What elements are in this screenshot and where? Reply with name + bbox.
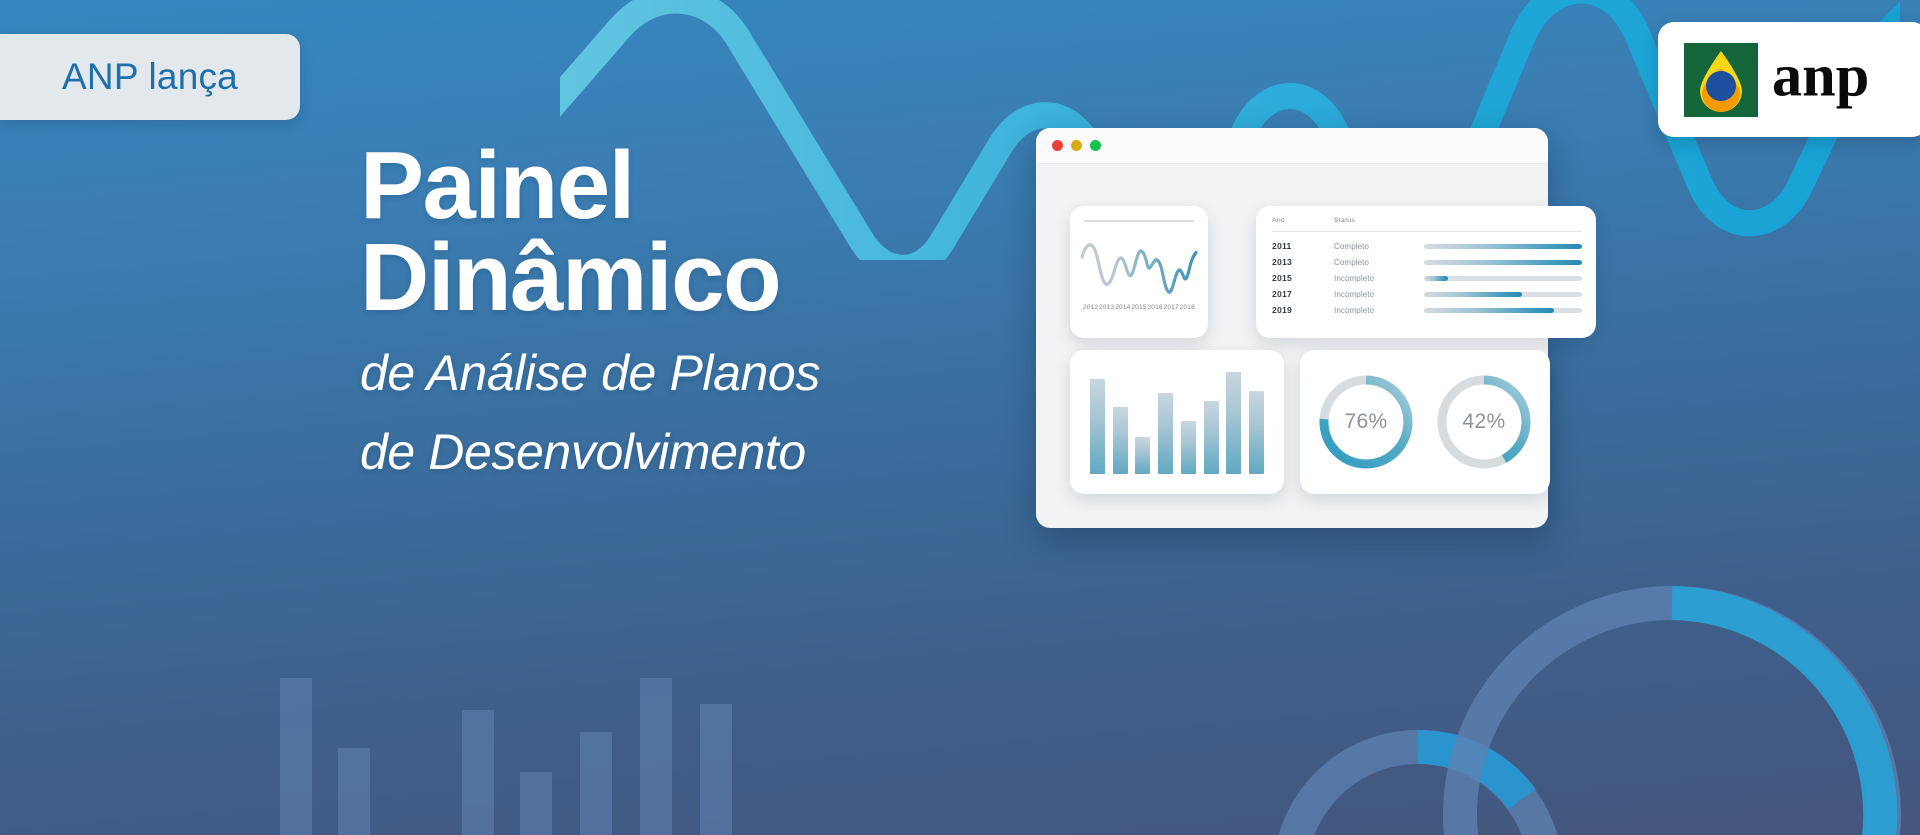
donut-gauge-value: 76% bbox=[1314, 370, 1418, 474]
cell-status: Incompleto bbox=[1334, 290, 1424, 299]
chart-bar bbox=[1113, 407, 1128, 474]
cell-progress-bar bbox=[1424, 292, 1582, 297]
chart-bar bbox=[1158, 393, 1173, 474]
cell-progress-bar bbox=[1424, 276, 1582, 281]
tick-2012: 2012 bbox=[1083, 304, 1098, 311]
headline-block: Painel Dinâmico de Análise de Planos de … bbox=[360, 140, 820, 482]
chart-bar bbox=[1135, 437, 1150, 474]
donut-gauge: 42% bbox=[1432, 370, 1536, 474]
line-chart-card: 2012 2013 2014 2015 2016 2017 2018 bbox=[1070, 206, 1208, 338]
cell-progress-bar bbox=[1424, 308, 1582, 313]
anp-wordmark: anp bbox=[1772, 39, 1910, 121]
subheadline-line-2: de Desenvolvimento bbox=[360, 423, 820, 482]
status-table-card: Ano Status 2011Completo2013Completo2015I… bbox=[1256, 206, 1596, 338]
anp-wordmark-text: anp bbox=[1772, 42, 1869, 109]
table-row[interactable]: 2015Incompleto bbox=[1272, 270, 1582, 286]
table-row[interactable]: 2019Incompleto bbox=[1272, 302, 1582, 318]
cell-progress-bar bbox=[1424, 244, 1582, 249]
tick-2015: 2015 bbox=[1131, 304, 1146, 311]
donut-gauges-card: 76%42% bbox=[1300, 350, 1550, 494]
cell-ano: 2015 bbox=[1272, 273, 1334, 283]
chart-bar bbox=[1090, 379, 1105, 474]
subheadline-line-1: de Análise de Planos bbox=[360, 344, 820, 403]
table-row[interactable]: 2013Completo bbox=[1272, 254, 1582, 270]
table-col-ano: Ano bbox=[1272, 217, 1334, 224]
tick-2016: 2016 bbox=[1147, 304, 1162, 311]
maximize-window-dot[interactable] bbox=[1090, 140, 1101, 151]
donut-gauge-value: 42% bbox=[1432, 370, 1536, 474]
table-row[interactable]: 2017Incompleto bbox=[1272, 286, 1582, 302]
table-col-status: Status bbox=[1334, 217, 1424, 224]
cell-status: Incompleto bbox=[1334, 306, 1424, 315]
donut-gauge: 76% bbox=[1314, 370, 1418, 474]
cell-ano: 2017 bbox=[1272, 289, 1334, 299]
cell-ano: 2011 bbox=[1272, 241, 1334, 251]
anp-droplet-logo-icon bbox=[1684, 43, 1758, 117]
browser-titlebar bbox=[1036, 128, 1548, 164]
anp-logo-card: anp bbox=[1658, 22, 1920, 137]
bar-chart-card bbox=[1070, 350, 1284, 494]
cell-progress-bar bbox=[1424, 260, 1582, 265]
chart-bar bbox=[1204, 401, 1219, 474]
tick-2018: 2018 bbox=[1180, 304, 1195, 311]
cell-ano: 2013 bbox=[1272, 257, 1334, 267]
anp-promo-banner: ANP lança anp Painel Dinâmico de Análise… bbox=[0, 0, 1920, 835]
badge-label: ANP lança bbox=[62, 56, 238, 98]
chart-bar bbox=[1249, 391, 1264, 474]
cell-ano: 2019 bbox=[1272, 305, 1334, 315]
table-body: 2011Completo2013Completo2015Incompleto20… bbox=[1272, 238, 1582, 318]
bar-chart-bars bbox=[1090, 372, 1264, 474]
headline-line-1: Painel bbox=[360, 140, 820, 232]
cell-status: Completo bbox=[1334, 242, 1424, 251]
card-top-rule bbox=[1084, 220, 1194, 222]
tick-2013: 2013 bbox=[1099, 304, 1114, 311]
minimize-window-dot[interactable] bbox=[1071, 140, 1082, 151]
background-donut-rings-decoration bbox=[1230, 515, 1920, 835]
chart-bar bbox=[1226, 372, 1241, 474]
cell-status: Incompleto bbox=[1334, 274, 1424, 283]
line-chart-x-axis-ticks: 2012 2013 2014 2015 2016 2017 2018 bbox=[1080, 300, 1198, 311]
close-window-dot[interactable] bbox=[1052, 140, 1063, 151]
table-header-divider bbox=[1272, 231, 1582, 232]
anp-lanca-badge: ANP lança bbox=[0, 34, 300, 120]
line-chart-svg bbox=[1080, 230, 1198, 300]
headline-line-2: Dinâmico bbox=[360, 232, 820, 324]
background-bars-decoration bbox=[280, 660, 760, 835]
table-header-row: Ano Status bbox=[1272, 217, 1582, 224]
table-row[interactable]: 2011Completo bbox=[1272, 238, 1582, 254]
tick-2017: 2017 bbox=[1164, 304, 1179, 311]
cell-status: Completo bbox=[1334, 258, 1424, 267]
tick-2014: 2014 bbox=[1115, 304, 1130, 311]
chart-bar bbox=[1181, 421, 1196, 474]
